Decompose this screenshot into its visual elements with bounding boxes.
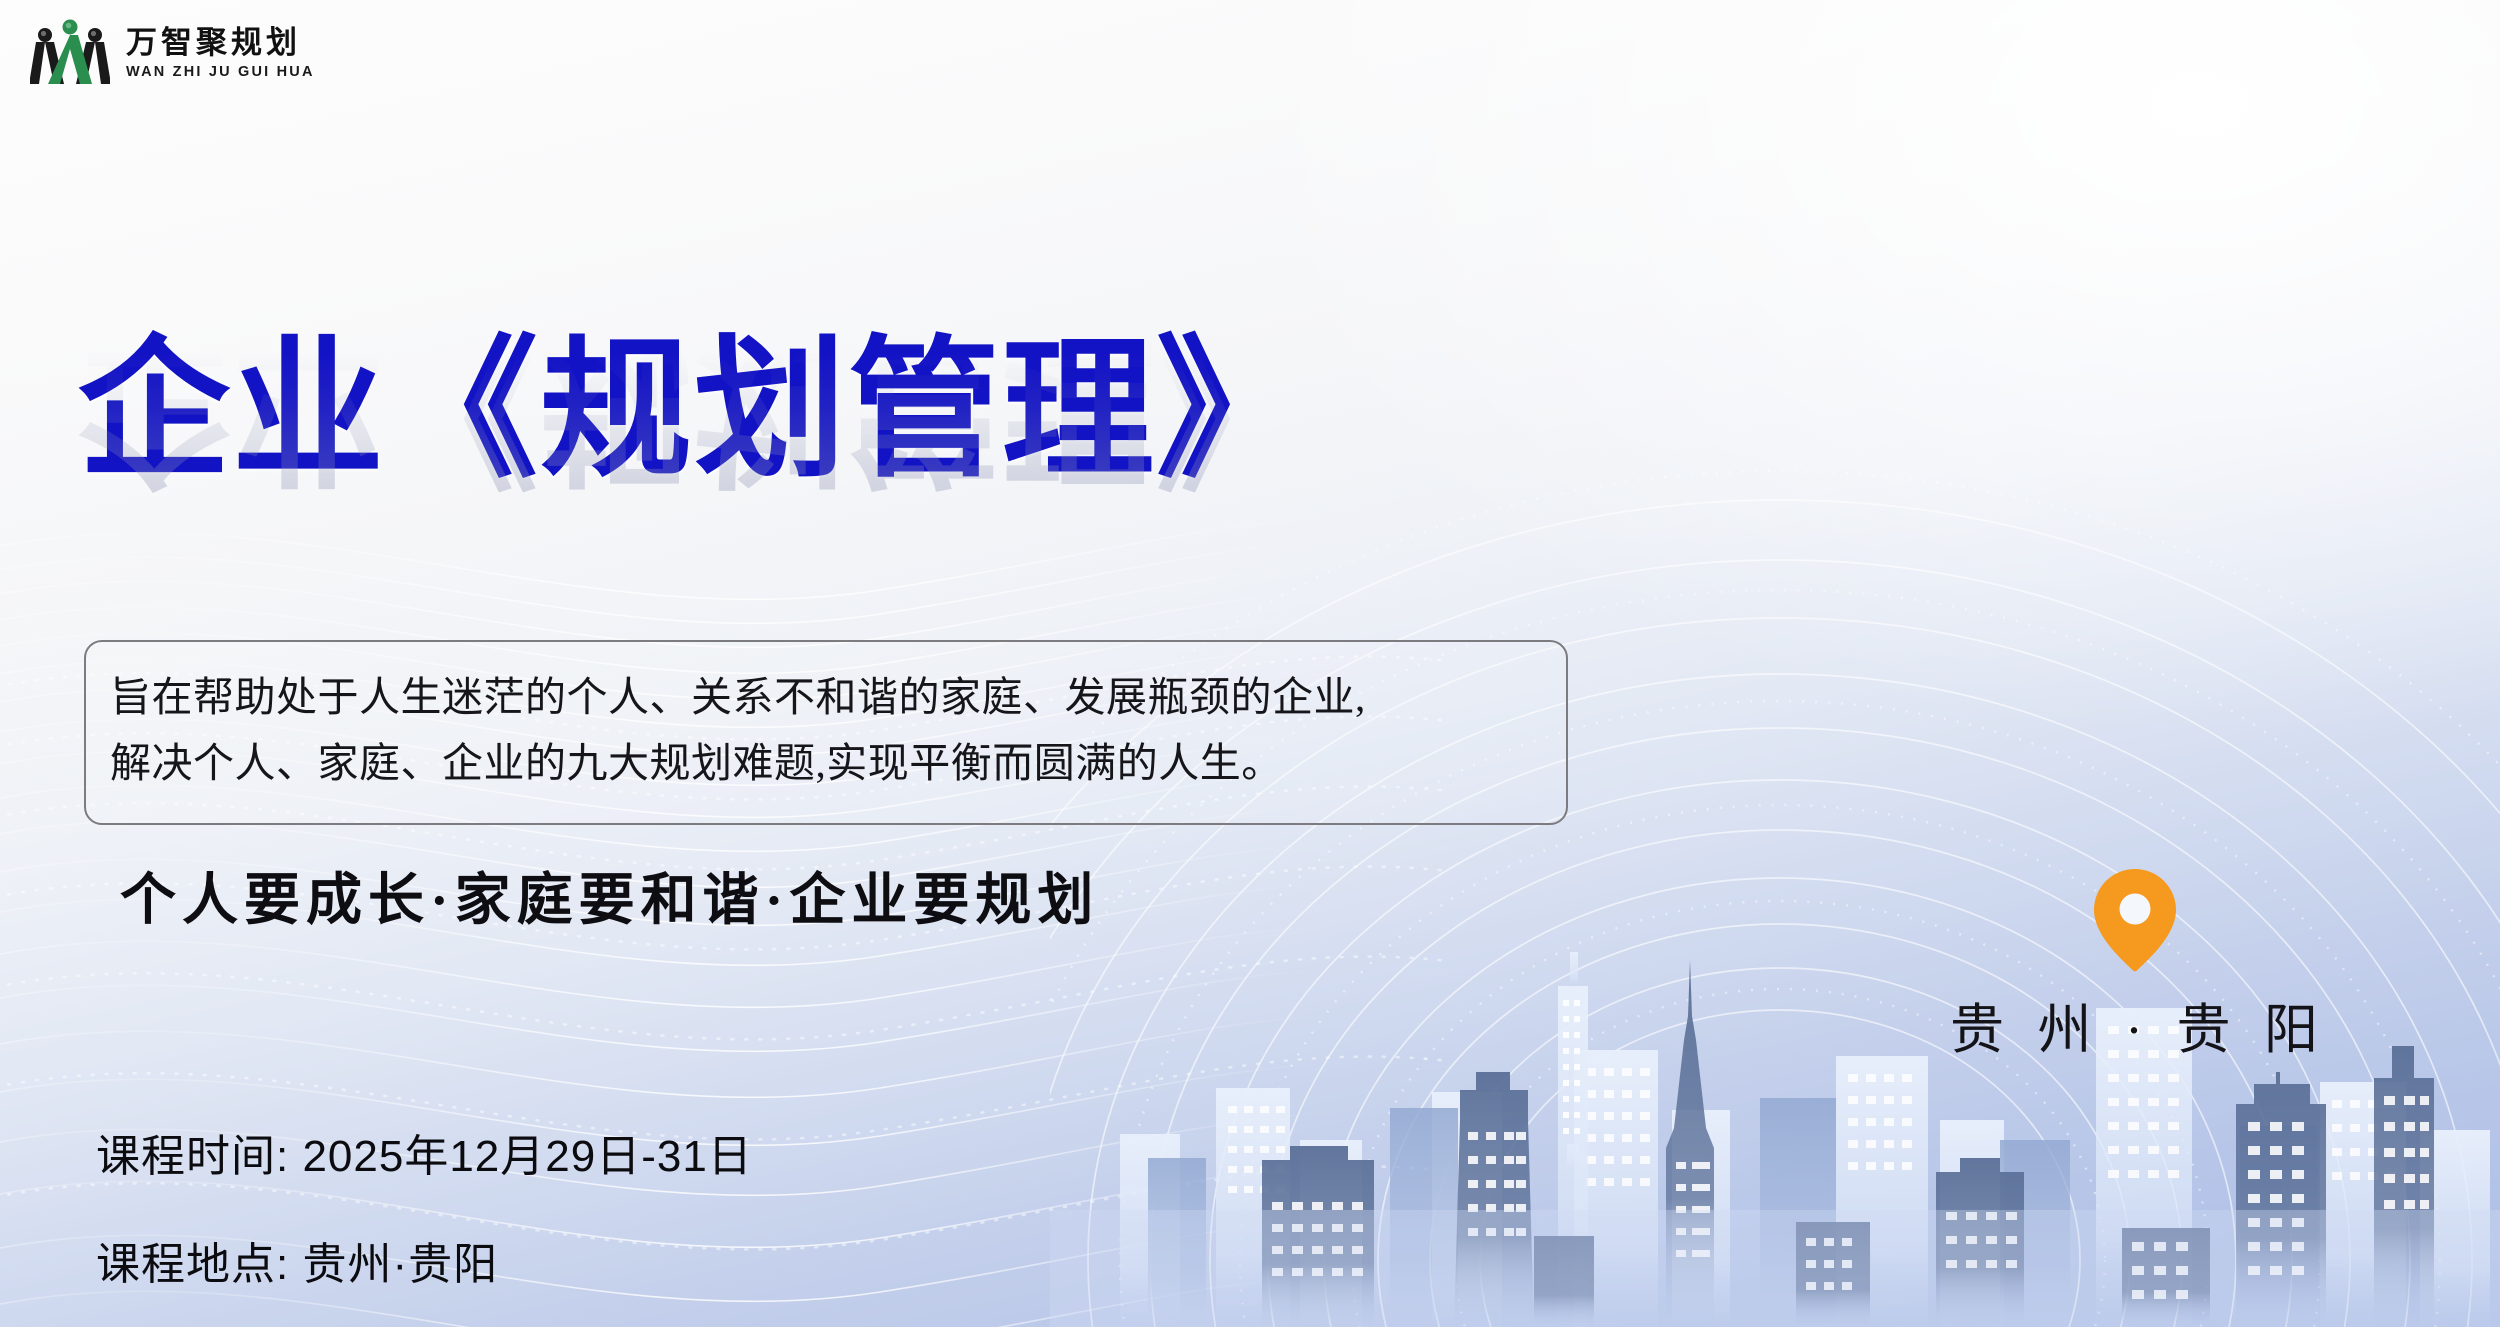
location-label: 贵 州 · 贵 阳 [1950, 985, 2320, 1064]
course-info-block: 课程时间: 2025年12月29日-31日 课程地点: 贵州·贵阳 [96, 1120, 753, 1292]
hero-title-block: 企业《规划管理》 企业《规划管理》 [78, 330, 1678, 660]
description-line-2: 解决个人、家庭、企业的九大规划难题,实现平衡而圆满的人生。 [110, 730, 1542, 796]
brand-name-en: WAN ZHI JU GUI HUA [126, 65, 315, 80]
map-pin-icon [2092, 865, 2178, 973]
three-people-logo-icon [30, 18, 110, 88]
location-badge: 贵 州 · 贵 阳 [1950, 865, 2320, 1064]
slogan-text: 个人要成长·家庭要和谐·企业要规划 [120, 855, 1099, 936]
course-time-row: 课程时间: 2025年12月29日-31日 [96, 1120, 753, 1184]
brand-logo: 万智聚规划 WAN ZHI JU GUI HUA [30, 18, 315, 88]
poster-canvas: 万智聚规划 WAN ZHI JU GUI HUA 企业《规划管理》 企业《规划管… [0, 0, 2500, 1327]
description-line-1: 旨在帮助处于人生迷茫的个人、关系不和谐的家庭、发展瓶颈的企业, [110, 664, 1542, 730]
description-box: 旨在帮助处于人生迷茫的个人、关系不和谐的家庭、发展瓶颈的企业, 解决个人、家庭、… [84, 640, 1568, 825]
brand-name-cn: 万智聚规划 [126, 27, 315, 58]
brand-wordmark: 万智聚规划 WAN ZHI JU GUI HUA [126, 27, 315, 80]
course-place-row: 课程地点: 贵州·贵阳 [96, 1228, 753, 1292]
page-title-reflection: 企业《规划管理》 [78, 332, 1678, 493]
